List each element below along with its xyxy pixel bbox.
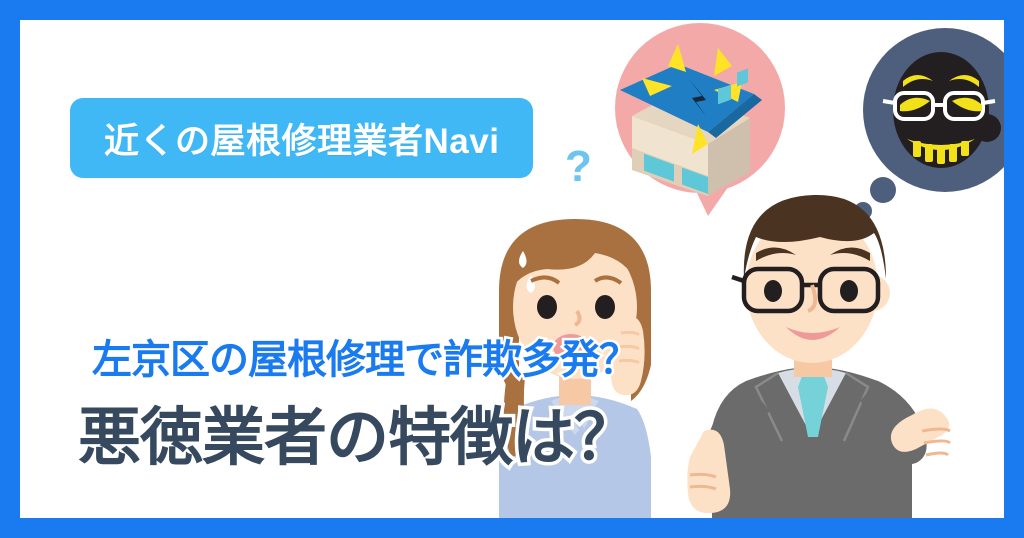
woman-eye-left xyxy=(537,295,557,319)
headline-main-title: 悪徳業者の特徴は？ xyxy=(78,387,636,478)
headline-subtitle: 左京区の屋根修理で詐欺多発？ xyxy=(92,327,638,385)
man-eye-left xyxy=(764,280,782,302)
woman-eye-right xyxy=(595,295,615,319)
badge-question-mark: ? xyxy=(565,142,592,192)
site-name-label: 近くの屋根修理業者Navi xyxy=(104,113,499,164)
man-eye-right xyxy=(840,280,858,302)
pointing-businessman-illustration xyxy=(660,175,990,518)
banner-canvas: 近くの屋根修理業者Navi ? 左京区の屋根修理で詐欺多発？ 悪徳業者の特徴は？ xyxy=(0,0,1024,538)
man-head xyxy=(732,195,890,363)
site-name-badge[interactable]: 近くの屋根修理業者Navi xyxy=(70,98,533,178)
banner-inner-stage: 近くの屋根修理業者Navi ? 左京区の屋根修理で詐欺多発？ 悪徳業者の特徴は？ xyxy=(20,20,1004,518)
